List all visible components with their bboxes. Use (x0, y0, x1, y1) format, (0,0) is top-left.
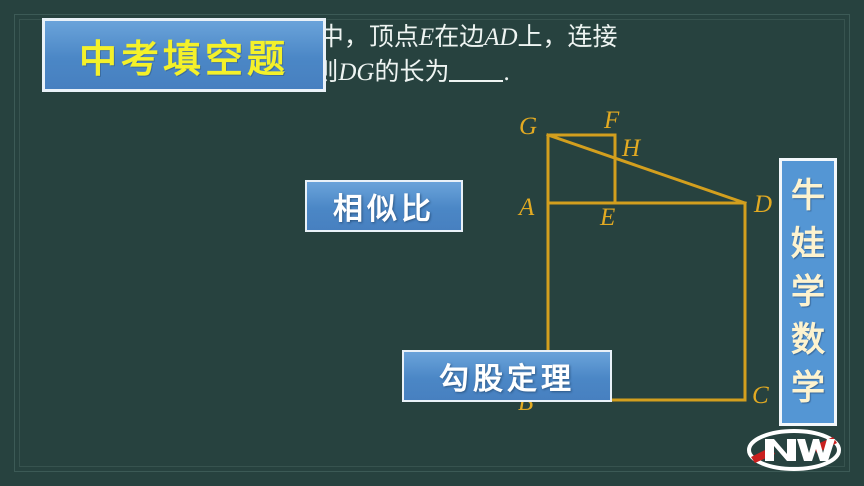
slide-canvas: 正方形AEFG中，顶点E在边AD上，连接 1，EH＝2，则DG的长为. GFHA… (0, 0, 864, 486)
answer-blank (449, 80, 503, 82)
channel-banner-char-2: 学 (791, 275, 825, 309)
channel-banner-char-4: 学 (791, 371, 825, 405)
vertex-label-A: A (519, 194, 534, 222)
vertex-label-H: H (622, 135, 640, 163)
vertex-label-C: C (752, 382, 769, 410)
nw-logo (745, 425, 843, 475)
problem-l2-t4: . (503, 59, 509, 86)
problem-l1-t2: 中，顶点 (319, 24, 419, 51)
title-plate-label: 中考填空题 (79, 28, 289, 83)
problem-l2-m2: DG (338, 59, 374, 86)
vertex-label-D: D (754, 191, 772, 219)
channel-banner-char-3: 数 (791, 323, 825, 357)
plate-pythagorean-theorem: 勾股定理 (402, 350, 612, 402)
channel-banner: 牛娃学数学 (779, 158, 837, 426)
vertex-label-F: F (604, 107, 619, 135)
problem-l1-m3: AD (484, 24, 517, 51)
vertex-label-G: G (519, 113, 537, 141)
problem-l2-t3: 的长为 (374, 59, 449, 86)
vertex-label-E: E (600, 204, 615, 232)
title-plate: 中考填空题 (42, 18, 326, 92)
problem-l1-t4: 上，连接 (518, 24, 618, 51)
plate-pythagorean-theorem-label: 勾股定理 (439, 354, 575, 398)
plate-similar-ratio-label: 相似比 (333, 184, 435, 228)
problem-l1-t3: 在边 (434, 24, 484, 51)
channel-banner-char-1: 娃 (791, 227, 825, 261)
plate-similar-ratio: 相似比 (305, 180, 463, 232)
problem-l1-m2: E (419, 24, 434, 51)
segment-diagonal-GD (548, 135, 745, 203)
channel-banner-char-0: 牛 (791, 179, 825, 213)
